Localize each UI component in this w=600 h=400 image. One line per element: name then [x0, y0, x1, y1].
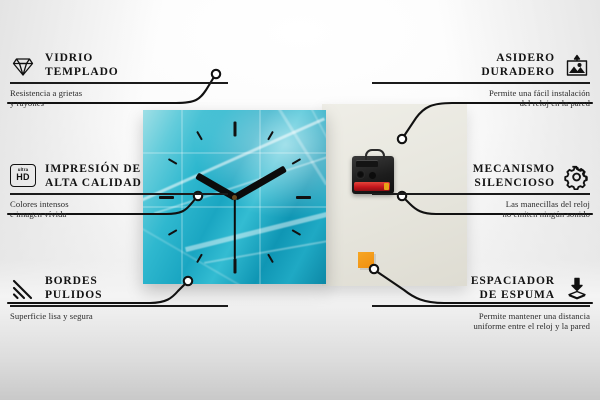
- clock-second-hand: [234, 197, 236, 259]
- clock-tick: [267, 131, 274, 141]
- feature-description: Permite una fácil instalacióndel reloj e…: [372, 88, 590, 109]
- feature-divider: [10, 305, 228, 307]
- feature-divider: [372, 82, 590, 84]
- picture-hanger-icon: [564, 53, 590, 79]
- feature-description: Colores intensose imagen vívida: [10, 199, 228, 220]
- feature-tempered-glass: VIDRIOTEMPLADO Resistencia a grietasy ra…: [10, 52, 228, 109]
- feature-description: Superficie lisa y segura: [10, 311, 228, 322]
- product-infographic: VIDRIOTEMPLADO Resistencia a grietasy ra…: [0, 0, 600, 400]
- clock-tick: [196, 131, 203, 141]
- feature-divider: [10, 82, 228, 84]
- clock-tick: [291, 229, 301, 236]
- clock-tick: [168, 229, 178, 236]
- clock-tick: [296, 196, 311, 199]
- clock-tick: [291, 158, 301, 165]
- feature-divider: [10, 193, 228, 195]
- feature-title: ASIDERODURADERO: [481, 52, 555, 79]
- diamond-icon: [10, 53, 36, 79]
- feature-hd-print: ultra HD IMPRESIÓN DEALTA CALIDAD Colore…: [10, 163, 228, 220]
- feature-description: Las manecillas del relojno emiten ningún…: [372, 199, 590, 220]
- feature-polished-edges: BORDESPULIDOS Superficie lisa y segura: [10, 275, 228, 321]
- mechanism-knob: [356, 170, 365, 179]
- feature-title: IMPRESIÓN DEALTA CALIDAD: [45, 163, 142, 190]
- feature-description: Resistencia a grietasy rayones: [10, 88, 228, 109]
- feature-divider: [372, 305, 590, 307]
- polished-edges-icon: [10, 276, 36, 302]
- feature-divider: [372, 193, 590, 195]
- hanging-hook-icon: [365, 149, 385, 160]
- feature-foam-spacer: ESPACIADORDE ESPUMA Permite mantener una…: [372, 275, 590, 332]
- foam-spacer-icon: [564, 276, 590, 302]
- badge-main-text: HD: [16, 173, 30, 182]
- clock-tick: [233, 121, 236, 136]
- ultra-hd-badge-icon: ultra HD: [10, 164, 36, 190]
- clock-tick: [233, 258, 236, 273]
- feature-silent-mechanism: MECANISMOSILENCIOSO Las manecillas del r…: [372, 163, 590, 220]
- feature-title: MECANISMOSILENCIOSO: [473, 163, 555, 190]
- gear-icon: [564, 164, 590, 190]
- feature-title: BORDESPULIDOS: [45, 275, 102, 302]
- feature-durable-hanger: ASIDERODURADERO Permite una fácil instal…: [372, 52, 590, 109]
- feature-title: VIDRIOTEMPLADO: [45, 52, 119, 79]
- foam-spacer-pad: [358, 252, 374, 268]
- clock-tick: [267, 254, 274, 264]
- feature-title: ESPACIADORDE ESPUMA: [471, 275, 555, 302]
- feature-description: Permite mantener una distanciauniforme e…: [372, 311, 590, 332]
- clock-pivot: [232, 195, 237, 200]
